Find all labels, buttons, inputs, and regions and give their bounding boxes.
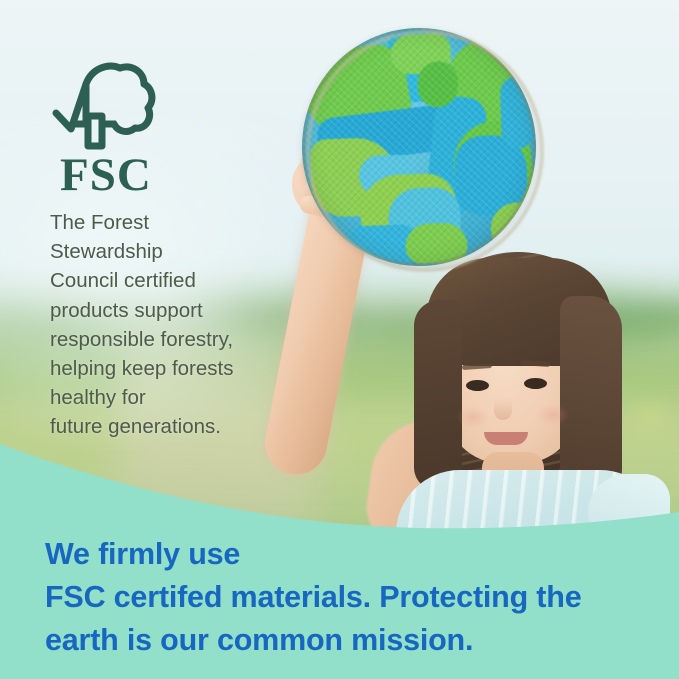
cheek-right	[536, 404, 570, 426]
headline-text: We firmly use FSC certifed materials. Pr…	[45, 533, 645, 662]
body-paragraph: The Forest Stewardship Council certified…	[50, 208, 300, 442]
eye-left	[466, 380, 489, 391]
fsc-promo-banner: FSC The Forest Stewardship Council certi…	[0, 0, 679, 679]
hair-left-side	[414, 300, 462, 490]
nose	[494, 398, 512, 420]
globe-cardboard-edge	[306, 30, 544, 272]
cheek-left	[456, 406, 490, 428]
fsc-wordmark: FSC	[60, 152, 160, 199]
eye-right	[524, 378, 547, 389]
mouth-smile	[484, 432, 528, 445]
fsc-tree-checkmark-icon	[52, 62, 160, 150]
fsc-logo: FSC	[52, 62, 160, 199]
